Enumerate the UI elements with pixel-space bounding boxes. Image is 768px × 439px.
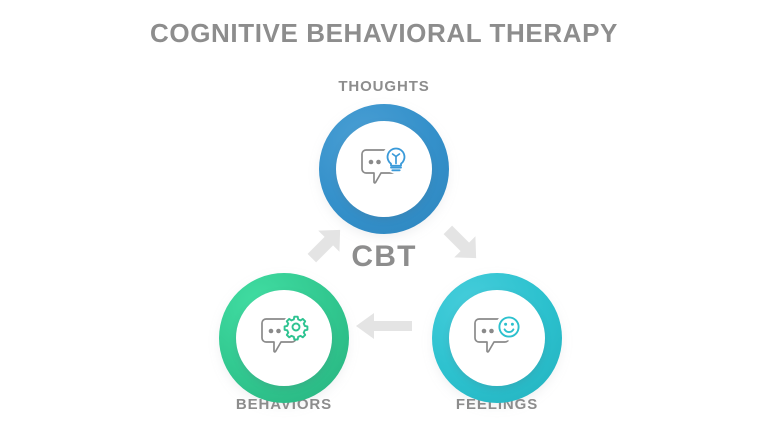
speech-bubble-gear-icon — [256, 313, 312, 363]
node-thoughts[interactable] — [319, 104, 449, 234]
node-feelings-inner — [449, 290, 545, 386]
node-behaviors-inner — [236, 290, 332, 386]
node-label-thoughts: THOUGHTS — [284, 78, 484, 95]
speech-bubble-lightbulb-icon — [356, 144, 412, 194]
arrow-feelings-to-behaviors — [352, 310, 416, 347]
arrow-behaviors-to-thoughts — [300, 218, 352, 275]
node-feelings[interactable] — [432, 273, 562, 403]
speech-bubble-smiley-icon — [469, 313, 525, 363]
cbt-diagram: COGNITIVE BEHAVIORAL THERAPY THOUGHTS — [0, 0, 768, 439]
arrow-thoughts-to-feelings — [436, 218, 488, 275]
node-behaviors[interactable] — [219, 273, 349, 403]
node-thoughts-inner — [336, 121, 432, 217]
page-title: COGNITIVE BEHAVIORAL THERAPY — [0, 18, 768, 49]
